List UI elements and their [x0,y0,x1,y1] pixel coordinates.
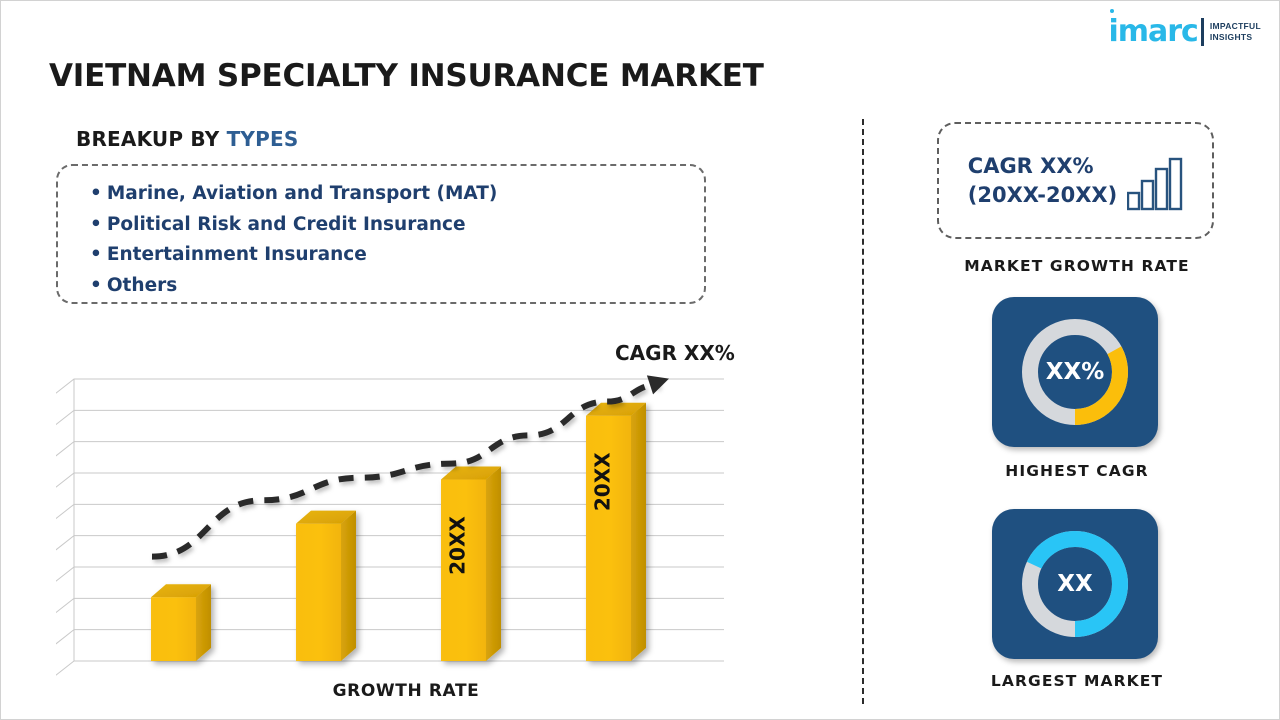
logo-dot-icon [1110,9,1114,13]
breakup-heading-accent: TYPES [227,127,299,151]
caption-market-growth-rate: MARKET GROWTH RATE [907,257,1247,275]
logo-tagline-line2: INSIGHTS [1210,32,1261,43]
vertical-divider [862,119,864,704]
list-item-label: Marine, Aviation and Transport (MAT) [107,183,498,204]
logo-tagline: IMPACTFUL INSIGHTS [1210,21,1261,43]
bar-chart-icon [1127,157,1183,211]
list-item-label: Political Risk and Credit Insurance [107,214,466,235]
donut-center-value: XX% [992,297,1158,447]
imarc-logo: imarc IMPACTFUL INSIGHTS [1108,15,1261,49]
logo-divider-bar [1201,18,1204,46]
infographic-page: imarc IMPACTFUL INSIGHTS VIETNAM SPECIAL… [0,0,1280,720]
chart-x-axis-label: GROWTH RATE [56,681,756,701]
chart-trend-label: CAGR XX% [615,341,735,365]
logo-tagline-line1: IMPACTFUL [1210,21,1261,32]
chart-bar-label: 20XX [591,452,615,511]
chart-bar [296,511,356,661]
list-item: •Marine, Aviation and Transport (MAT) [90,179,704,210]
breakup-types-list: •Marine, Aviation and Transport (MAT) •P… [90,179,704,301]
chart-bar [586,403,646,661]
donut-center-value: XX [992,509,1158,659]
bullet-icon: • [90,183,102,204]
cagr-box: CAGR XX% (20XX-20XX) [937,122,1214,239]
caption-largest-market: LARGEST MARKET [907,672,1247,690]
logo-wordmark: imarc [1108,17,1197,47]
bullet-icon: • [90,214,102,235]
logo-wordmark-text: imarc [1108,14,1197,49]
growth-rate-bar-chart: 20XX20XX [56,331,756,676]
list-item: •Political Risk and Credit Insurance [90,210,704,241]
chart-svg: 20XX20XX [56,331,756,676]
trend-arrowhead-icon [647,369,672,394]
list-item: •Entertainment Insurance [90,240,704,271]
cagr-box-line1: CAGR XX% [968,152,1117,181]
list-item: •Others [90,271,704,302]
page-title: VIETNAM SPECIALTY INSURANCE MARKET [49,58,764,94]
bullet-icon: • [90,244,102,265]
bullet-icon: • [90,275,102,296]
caption-highest-cagr: HIGHEST CAGR [907,462,1247,480]
cagr-box-text: CAGR XX% (20XX-20XX) [968,152,1117,210]
chart-bar [151,584,211,661]
cagr-box-line2: (20XX-20XX) [968,181,1117,210]
largest-market-card: XX [992,509,1158,659]
breakup-types-box: •Marine, Aviation and Transport (MAT) •P… [56,164,706,304]
list-item-label: Others [107,275,177,296]
breakup-heading: BREAKUP BY TYPES [76,127,298,151]
breakup-heading-prefix: BREAKUP BY [76,127,227,151]
chart-bar-label: 20XX [446,516,470,575]
highest-cagr-card: XX% [992,297,1158,447]
list-item-label: Entertainment Insurance [107,244,367,265]
